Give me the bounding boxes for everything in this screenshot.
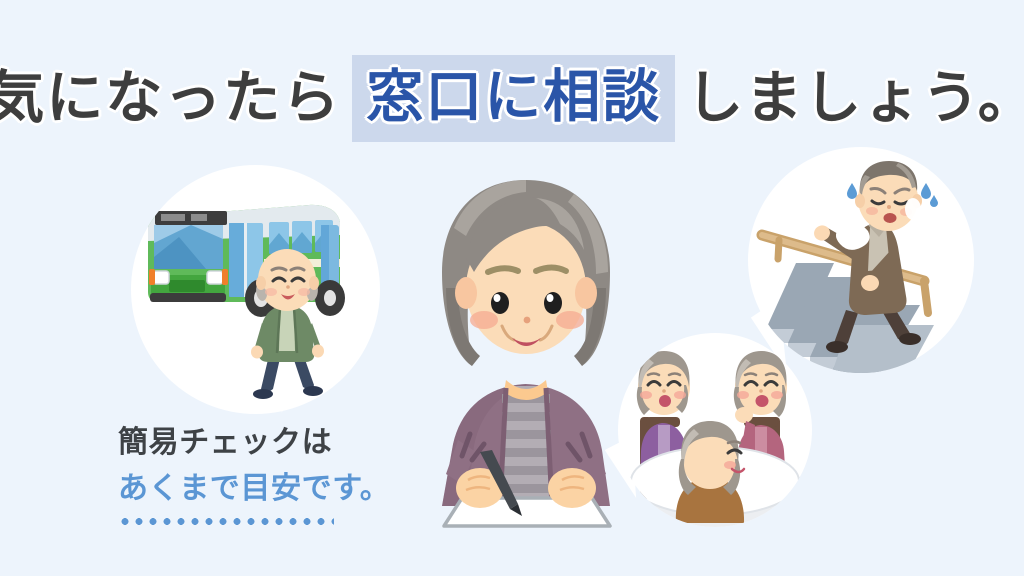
illustration-elderly-woman-writing: [396, 168, 656, 532]
caption-line-1: 簡易チェックは: [118, 420, 418, 466]
title-segment-after: しましょう。: [684, 70, 1024, 127]
caption-line-2: あくまで目安です。: [118, 466, 418, 512]
title-segment-highlight: 窓口に相談: [352, 55, 675, 142]
caption-dotted-underline: [118, 518, 334, 525]
poster-canvas: 気になったら窓口に相談しましょう。 簡易チェックは あくまで目安です。: [0, 0, 1024, 576]
title-segment-before: 気になったら: [0, 70, 343, 127]
caption-block: 簡易チェックは あくまで目安です。: [118, 420, 418, 525]
illustration-bus-scene: [131, 165, 380, 418]
page-title: 気になったら窓口に相談しましょう。: [0, 52, 1024, 144]
